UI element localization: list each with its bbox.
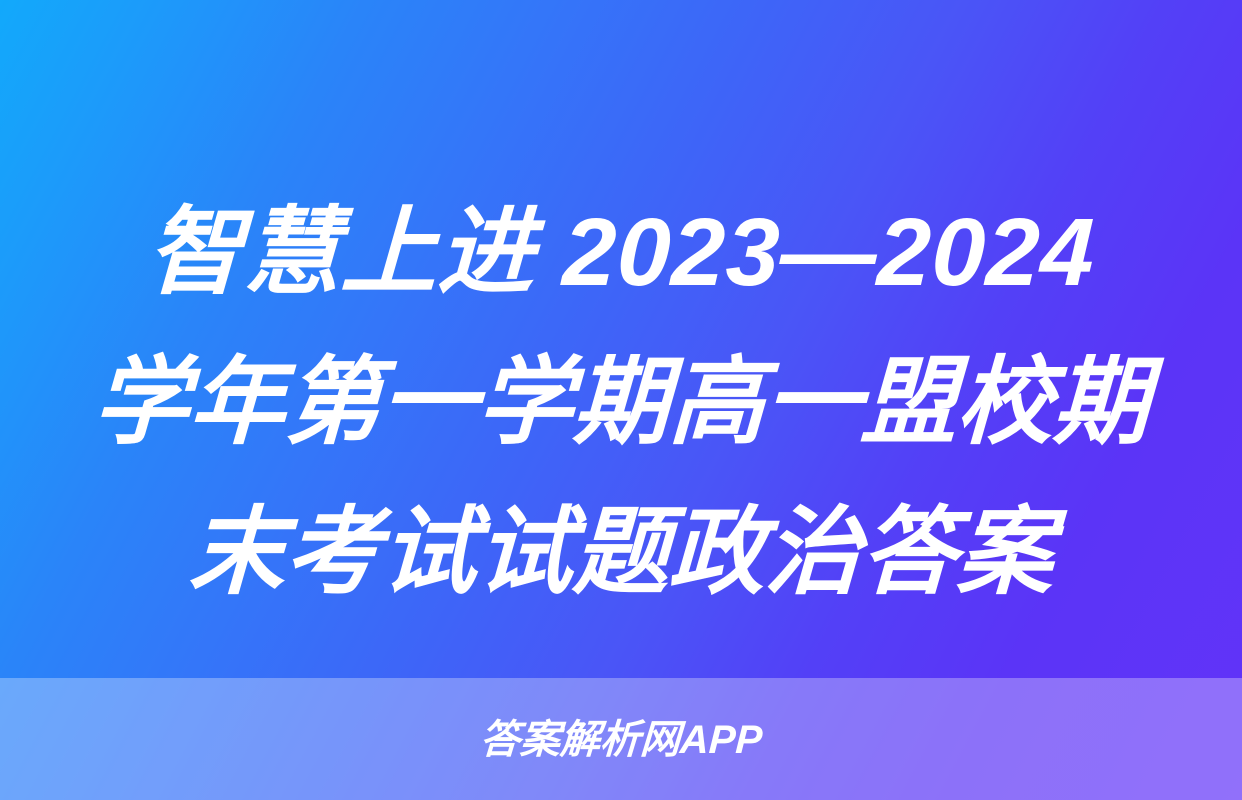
poster-title: 智慧上进 2023—2024 学年第一学期高一盟校期 末考试试题政治答案 — [0, 178, 1242, 628]
title-line-3: 末考试试题政治答案 — [51, 478, 1190, 628]
title-line-1: 智慧上进 2023—2024 — [51, 178, 1190, 328]
poster-canvas: 智慧上进 2023—2024 学年第一学期高一盟校期 末考试试题政治答案 答案解… — [0, 0, 1242, 800]
footer-band: 答案解析网APP — [0, 678, 1242, 800]
app-watermark-label: 答案解析网APP — [479, 720, 763, 760]
title-line-2: 学年第一学期高一盟校期 — [51, 328, 1190, 478]
